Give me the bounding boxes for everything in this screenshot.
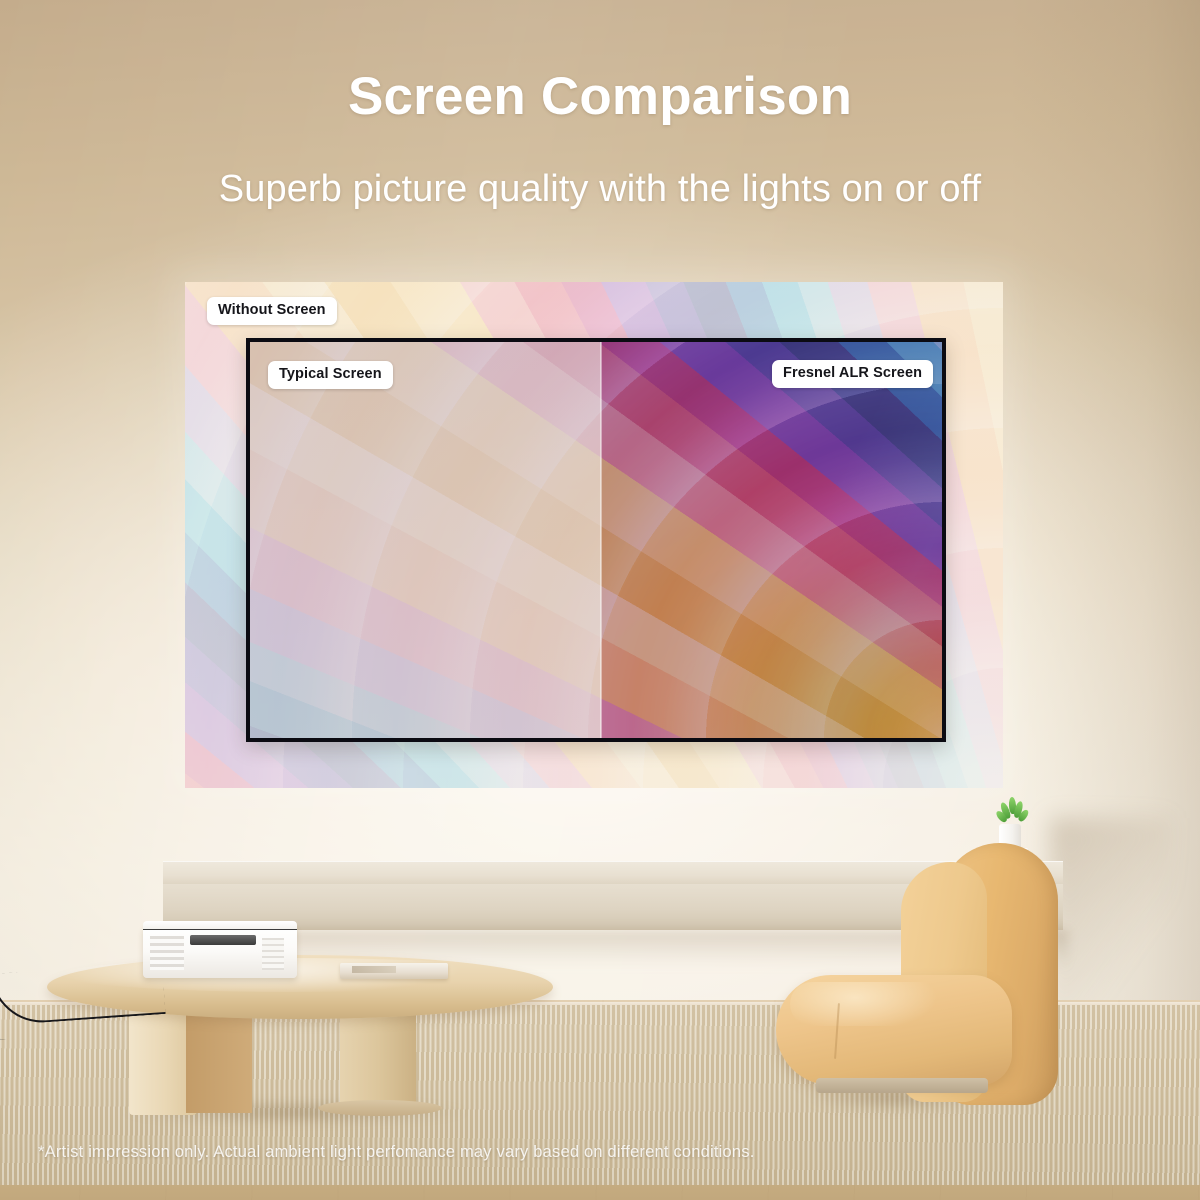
- screen-image: [250, 342, 942, 738]
- lounge-chair-base: [816, 1078, 988, 1093]
- projector-vent-right: [262, 938, 284, 970]
- coffee-table-leg-right-base: [318, 1100, 442, 1116]
- label-without-screen: Without Screen: [207, 297, 337, 325]
- projection-screen: [246, 338, 946, 742]
- page-subtitle: Superb picture quality with the lights o…: [0, 168, 1200, 211]
- page-title: Screen Comparison: [0, 66, 1200, 127]
- scene-root: Without Screen Typical Screen Fresnel AL…: [0, 0, 1200, 1200]
- fresnel-screen-gloss: [603, 342, 942, 738]
- coffee-table-leg-left-inner: [186, 1003, 252, 1113]
- comparison-split-line: [600, 342, 602, 738]
- label-fresnel-alr-screen: Fresnel ALR Screen: [772, 360, 933, 388]
- ledge-cast-shadow: [1050, 818, 1170, 1018]
- projector-lens: [190, 935, 256, 945]
- book-cover-band: [352, 966, 396, 973]
- typical-screen-washout-tint: [250, 342, 601, 738]
- power-cable-tail: [0, 980, 14, 1040]
- projector-top: [143, 921, 297, 930]
- label-typical-screen: Typical Screen: [268, 361, 393, 389]
- disclaimer-text: *Artist impression only. Actual ambient …: [0, 1143, 1200, 1162]
- lounge-chair-highlight: [790, 982, 970, 1026]
